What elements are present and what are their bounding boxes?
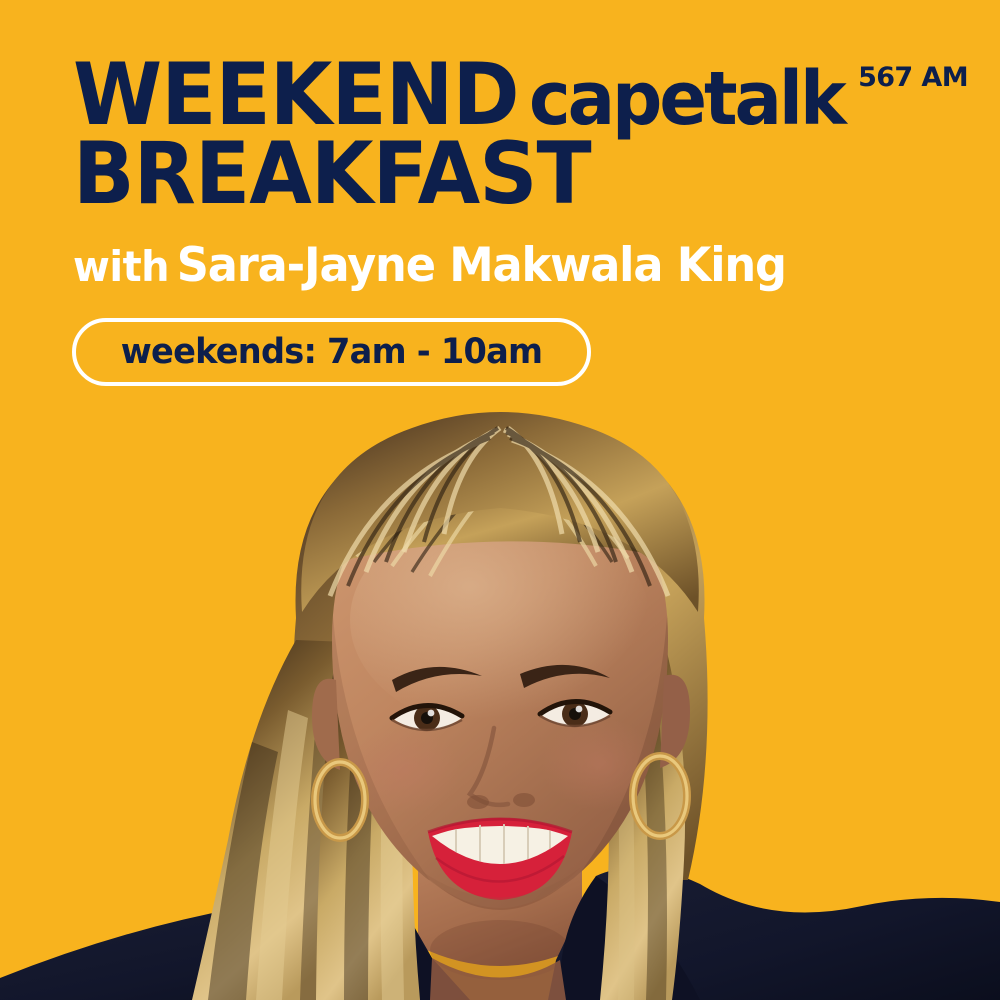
show-title-line-2: BREAKFAST [73, 135, 778, 214]
host-byline: withSara-Jayne Makwala King [73, 238, 786, 293]
show-promo-poster: capetalk 567 AM WEEKEND BREAKFAST withSa… [0, 0, 1000, 1000]
show-title-block: WEEKEND BREAKFAST withSara-Jayne Makwala… [73, 56, 823, 293]
schedule-pill[interactable]: weekends: 7am - 10am [72, 318, 591, 386]
host-name: Sara-Jayne Makwala King [177, 238, 786, 293]
byline-with-label: with [73, 242, 169, 291]
schedule-pill-text: weekends: 7am - 10am [121, 332, 542, 372]
